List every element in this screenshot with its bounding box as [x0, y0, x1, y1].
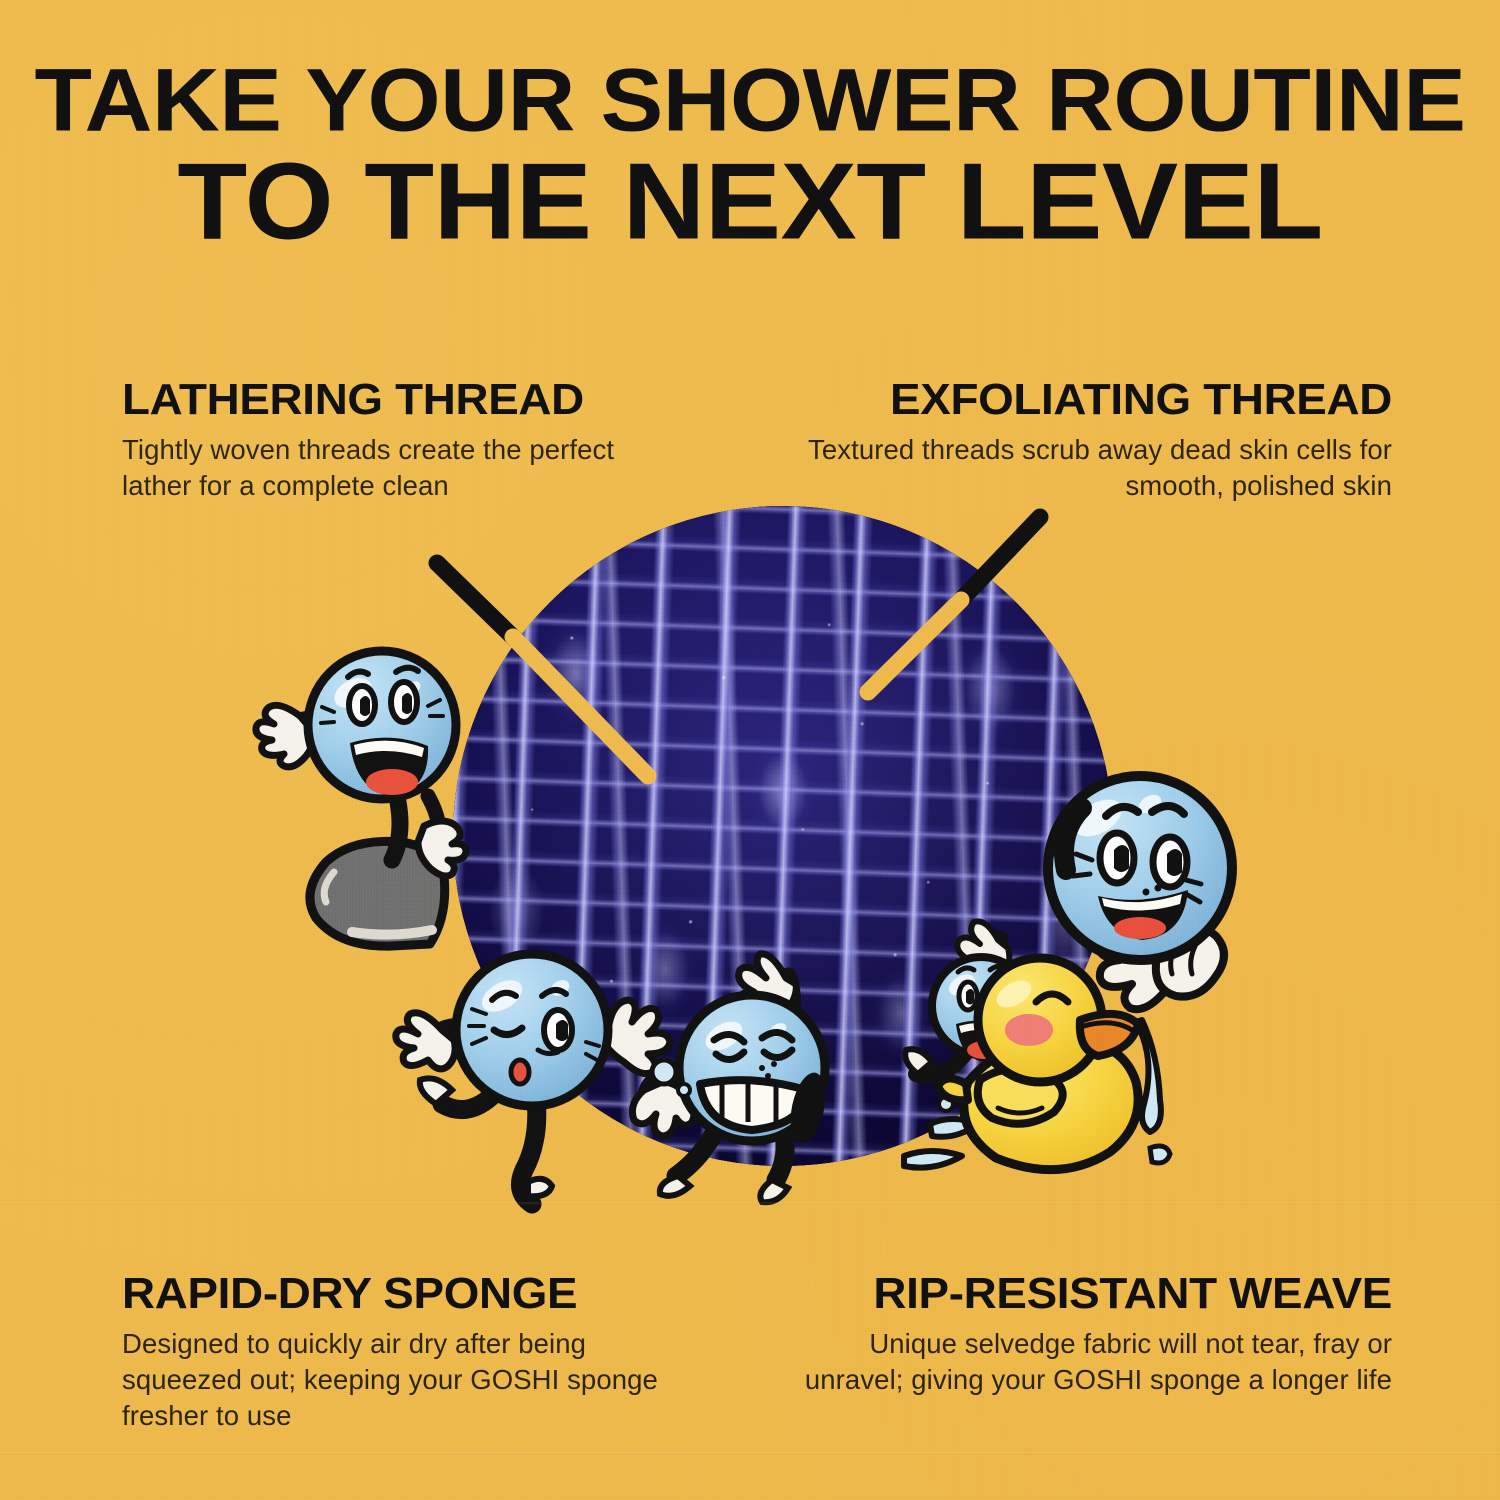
headline-line-1: TAKE YOUR SHOWER ROUTINE	[0, 60, 1500, 142]
feature-title-rip-resistant-weave: RIP-RESISTANT WEAVE	[747, 1272, 1392, 1316]
feature-lathering-thread: LATHERING THREAD Tightly woven threads c…	[122, 378, 682, 504]
feature-title-rapid-dry-sponge: RAPID-DRY SPONGE	[122, 1272, 704, 1316]
glove-hands-under-chin	[1098, 928, 1224, 1009]
grey-sponge-object	[310, 841, 445, 946]
paper-seam-top	[0, 1202, 1500, 1205]
glove-hand-raised-left	[396, 1013, 455, 1069]
feature-rip-resistant-weave: RIP-RESISTANT WEAVE Unique selvedge fabr…	[772, 1272, 1392, 1398]
headline-line-2: TO THE NEXT LEVEL	[0, 153, 1500, 252]
feature-title-lathering-thread: LATHERING THREAD	[122, 378, 704, 422]
glove-hand-left	[256, 705, 313, 767]
feature-exfoliating-thread: EXFOLIATING THREAD Textured threads scru…	[792, 378, 1392, 504]
feature-rapid-dry-sponge: RAPID-DRY SPONGE Designed to quickly air…	[122, 1272, 682, 1433]
fabric-swatch-circle	[453, 506, 1113, 1166]
bubble-mascot-waving	[256, 651, 466, 946]
infographic-poster: TAKE YOUR SHOWER ROUTINE TO THE NEXT LEV…	[0, 0, 1500, 1500]
fabric-highlight-speckles	[453, 506, 1113, 1166]
feature-body-rip-resistant-weave: Unique selvedge fabric will not tear, fr…	[772, 1326, 1392, 1398]
feature-body-lathering-thread: Tightly woven threads create the perfect…	[122, 432, 682, 504]
feature-title-exfoliating-thread: EXFOLIATING THREAD	[768, 378, 1392, 422]
feature-body-exfoliating-thread: Textured threads scrub away dead skin ce…	[792, 432, 1392, 504]
paper-seam-bottom	[0, 1452, 1500, 1455]
feature-body-rapid-dry-sponge: Designed to quickly air dry after being …	[122, 1326, 682, 1433]
headline: TAKE YOUR SHOWER ROUTINE TO THE NEXT LEV…	[0, 62, 1500, 251]
